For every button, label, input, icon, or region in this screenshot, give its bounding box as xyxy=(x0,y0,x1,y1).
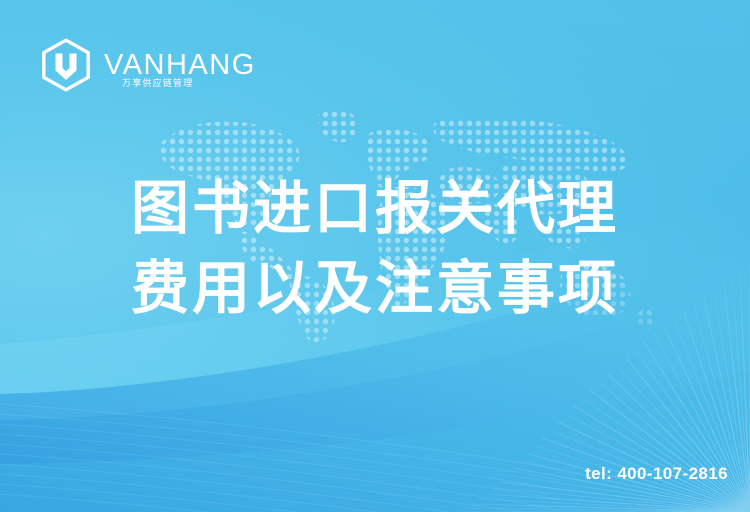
headline-line-1: 图书进口报关代理 xyxy=(0,168,750,248)
logo-subtitle: 万享供应链管理 xyxy=(122,76,193,89)
logo-text-group: VANHANG 万享供应链管理 xyxy=(104,37,256,93)
promo-banner: VANHANG 万享供应链管理 图书进口报关代理 费用以及注意事项 tel: 4… xyxy=(0,0,750,512)
page-title: 图书进口报关代理 费用以及注意事项 xyxy=(0,168,750,328)
headline-line-2: 费用以及注意事项 xyxy=(0,248,750,328)
contact-phone[interactable]: tel: 400-107-2816 xyxy=(585,464,728,484)
brand-logo[interactable]: VANHANG 万享供应链管理 xyxy=(38,36,256,94)
hexagon-u-monogram-icon xyxy=(38,37,94,93)
